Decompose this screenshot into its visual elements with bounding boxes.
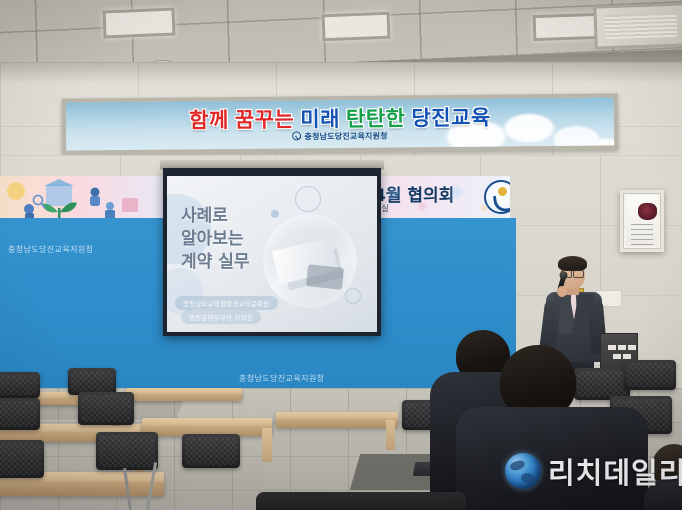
attendee-top <box>644 478 682 510</box>
wall-shadow <box>0 62 682 84</box>
desk-leg <box>262 428 272 462</box>
ceiling-light-panel <box>533 13 600 41</box>
banner-word-2: 꿈꾸는 <box>232 103 298 134</box>
desk-edge <box>126 394 242 401</box>
banner-subtitle-text: 충청남도당진교육지원청 <box>304 132 387 142</box>
chair <box>0 440 44 478</box>
projection-screen: 사례로 알아보는 계약 실무 충청남도교육청학생교육문화원 행정운영부부장 이학… <box>163 168 381 336</box>
backdrop-text: 충청남도당진교육지원청 <box>8 244 93 255</box>
slide-photo-circle <box>263 214 357 308</box>
chair-mesh <box>0 443 41 475</box>
chair <box>68 368 116 395</box>
chair <box>0 372 40 398</box>
chair <box>96 432 158 470</box>
attendee-front-right <box>648 444 682 510</box>
slide-title-line-1: 사례로 <box>181 204 228 228</box>
chair-mesh <box>71 371 113 392</box>
presenter-hand <box>557 286 567 297</box>
chair-mesh <box>99 435 155 467</box>
banner-word-1: 함께 <box>186 104 232 134</box>
chair <box>182 434 240 468</box>
certificate-inner <box>626 196 658 246</box>
education-office-logo-icon <box>292 131 301 140</box>
framed-certificate <box>620 190 664 252</box>
desk-edge <box>276 419 398 428</box>
certificate-seal-icon <box>638 203 657 220</box>
air-conditioner-unit <box>593 2 682 49</box>
desk-edge <box>0 482 164 496</box>
chair-mesh <box>81 395 131 422</box>
chair <box>78 392 134 425</box>
desk-leg <box>386 420 395 450</box>
slide-decor-circle <box>295 186 321 212</box>
slide-subtitle-pill: 충청남도교육청학생교육문화원 <box>175 296 278 310</box>
banner-word-5: 당진교육 <box>408 102 494 133</box>
chair-mesh <box>0 401 37 427</box>
attendee-front-center <box>462 345 642 510</box>
slide-title-line-2: 알아보는 <box>181 227 244 251</box>
slide-decor-dot <box>271 210 279 218</box>
slide-presenter-pill: 행정운영부부장 이학진 <box>181 310 261 324</box>
slide-decor-circle <box>345 288 361 304</box>
slide-surface: 사례로 알아보는 계약 실무 충청남도교육청학생교육문화원 행정운영부부장 이학… <box>167 176 377 332</box>
banner-word-4: 탄탄한 <box>343 102 409 133</box>
conference-room-photo: 함께꿈꾸는미래탄탄한당진교육 충청남도당진교육지원청 2026년 <box>0 0 682 510</box>
chair <box>0 398 40 430</box>
banner-illustration <box>0 178 148 220</box>
backdrop-text: 충청남도당진교육지원청 <box>239 373 324 384</box>
banner-decoration <box>376 178 506 220</box>
chair-mesh <box>185 437 237 465</box>
chair <box>256 492 466 510</box>
attendee-jacket <box>456 407 648 510</box>
ceiling-light-panel <box>322 12 391 42</box>
chair-mesh <box>0 375 37 395</box>
slide-title-line-3: 계약 실무 <box>181 250 249 274</box>
banner-word-3: 미래 <box>297 103 343 133</box>
certificate-text-lines <box>631 224 653 246</box>
ceiling-light-panel <box>102 8 175 39</box>
room-slogan-banner: 함께꿈꾸는미래탄탄한당진교육 충청남도당진교육지원청 <box>62 93 619 154</box>
